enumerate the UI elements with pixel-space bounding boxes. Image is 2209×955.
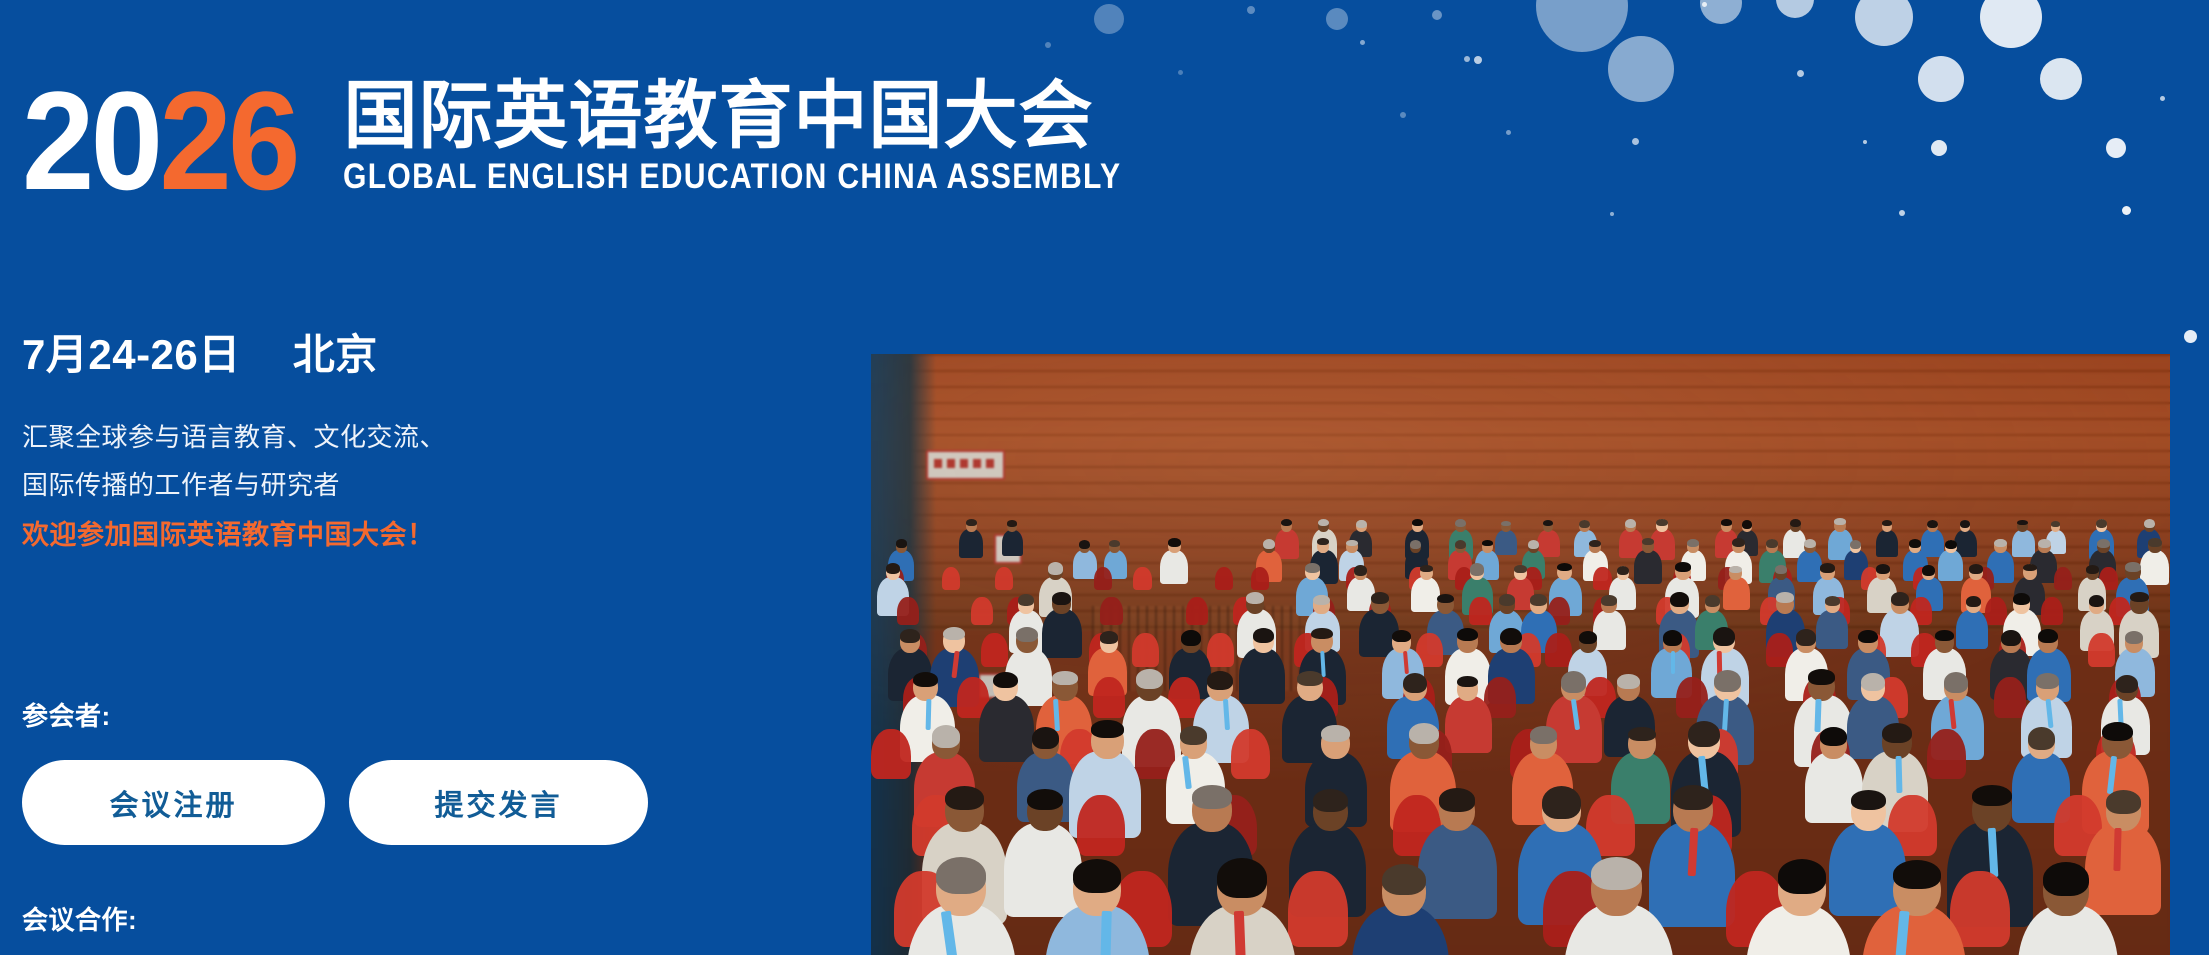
event-title-en: GLOBAL ENGLISH EDUCATION CHINA ASSEMBLY (343, 159, 1121, 194)
circle-bubble-icon (2106, 138, 2126, 158)
event-logo: 2026 国际英语教育中国大会 GLOBAL ENGLISH EDUCATION… (22, 78, 1249, 198)
circle-bubble-icon (1506, 130, 1511, 135)
circle-bubble-icon (1899, 210, 1905, 216)
circle-bubble-icon (1400, 112, 1406, 118)
title-block: 国际英语教育中国大会 GLOBAL ENGLISH EDUCATION CHIN… (343, 78, 1248, 198)
year-logo: 2026 (22, 84, 297, 199)
audience-member (1045, 862, 1150, 955)
event-info-column: 7月24-26日北京 汇聚全球参与语言教育、文化交流、 国际传播的工作者与研究者… (22, 332, 822, 566)
conference-banner: 2026 国际英语教育中国大会 GLOBAL ENGLISH EDUCATION… (0, 0, 2209, 955)
circle-bubble-icon (1464, 56, 1470, 62)
circle-bubble-icon (1094, 4, 1124, 34)
audience-member-hair (1591, 857, 1642, 890)
circle-bubble-icon (1326, 8, 1348, 30)
welcome-highlight: 欢迎参加国际英语教育中国大会！ (22, 518, 822, 554)
circle-bubble-icon (1776, 0, 1814, 18)
circle-bubble-icon (1863, 140, 1867, 144)
audience-member-hair (2043, 862, 2089, 896)
audience-row (871, 354, 2170, 955)
auditorium-seat (1288, 871, 1348, 946)
audience-member-hair (936, 857, 986, 894)
action-button-row: 会议注册 提交发言 (22, 760, 648, 845)
circle-bubble-icon (1980, 0, 2042, 48)
circle-bubble-icon (1610, 212, 1614, 216)
circle-bubble-icon (1700, 0, 1742, 24)
circle-bubble-icon (1608, 36, 1674, 102)
circle-bubble-icon (2160, 96, 2165, 101)
submit-talk-button[interactable]: 提交发言 (349, 760, 648, 845)
attendee-lanyard (1234, 911, 1246, 955)
attendee-section-label: 参会者: (22, 696, 111, 733)
description-line-1: 汇聚全球参与语言教育、文化交流、 (22, 420, 822, 454)
circle-bubble-icon (1797, 70, 1804, 77)
audience-member-hair (1217, 858, 1266, 898)
circle-bubble-icon (1918, 56, 1964, 102)
circle-bubble-icon (1536, 0, 1628, 52)
audience-member (1352, 866, 1449, 955)
audience-crowd (871, 354, 2170, 955)
audience-member (2018, 865, 2118, 955)
event-title-cn: 国际英语教育中国大会 (343, 78, 1248, 153)
circle-bubble-icon (2184, 330, 2197, 343)
event-date: 7月24-26日 (22, 331, 241, 378)
conference-audience-photo (871, 354, 2170, 955)
audience-member-hair (1778, 859, 1826, 894)
register-button[interactable]: 会议注册 (22, 760, 325, 845)
partner-section-label: 会议合作: (22, 900, 137, 937)
year-first-part: 20 (22, 62, 159, 219)
attendee-lanyard (1101, 911, 1113, 955)
circle-bubble-icon (1247, 6, 1255, 14)
year-second-part: 26 (159, 62, 296, 219)
description-line-2: 国际传播的工作者与研究者 (22, 468, 822, 502)
circle-bubble-icon (1178, 70, 1183, 75)
circle-bubble-icon (1474, 56, 1482, 64)
circle-bubble-icon (1045, 42, 1051, 48)
event-date-line: 7月24-26日北京 (22, 332, 822, 378)
circle-bubble-icon (2040, 58, 2082, 100)
circle-bubble-icon (2122, 206, 2131, 215)
audience-member (1746, 862, 1851, 955)
audience-member (907, 860, 1016, 955)
circle-bubble-icon (1632, 138, 1639, 145)
circle-bubble-icon (1432, 10, 1442, 20)
circle-bubble-icon (1702, 2, 1707, 7)
circle-bubble-icon (1931, 140, 1947, 156)
audience-member-hair (1893, 860, 1941, 889)
audience-member (1862, 863, 1966, 955)
photo-scene (871, 354, 2170, 955)
audience-member (1564, 860, 1674, 955)
audience-member (1189, 861, 1297, 955)
audience-member-hair (1382, 864, 1426, 896)
circle-bubble-icon (1855, 0, 1913, 46)
event-description: 汇聚全球参与语言教育、文化交流、 国际传播的工作者与研究者 欢迎参加国际英语教育… (22, 420, 822, 553)
audience-member-hair (1073, 859, 1121, 893)
circle-bubble-icon (1360, 40, 1365, 45)
event-city: 北京 (293, 331, 378, 378)
